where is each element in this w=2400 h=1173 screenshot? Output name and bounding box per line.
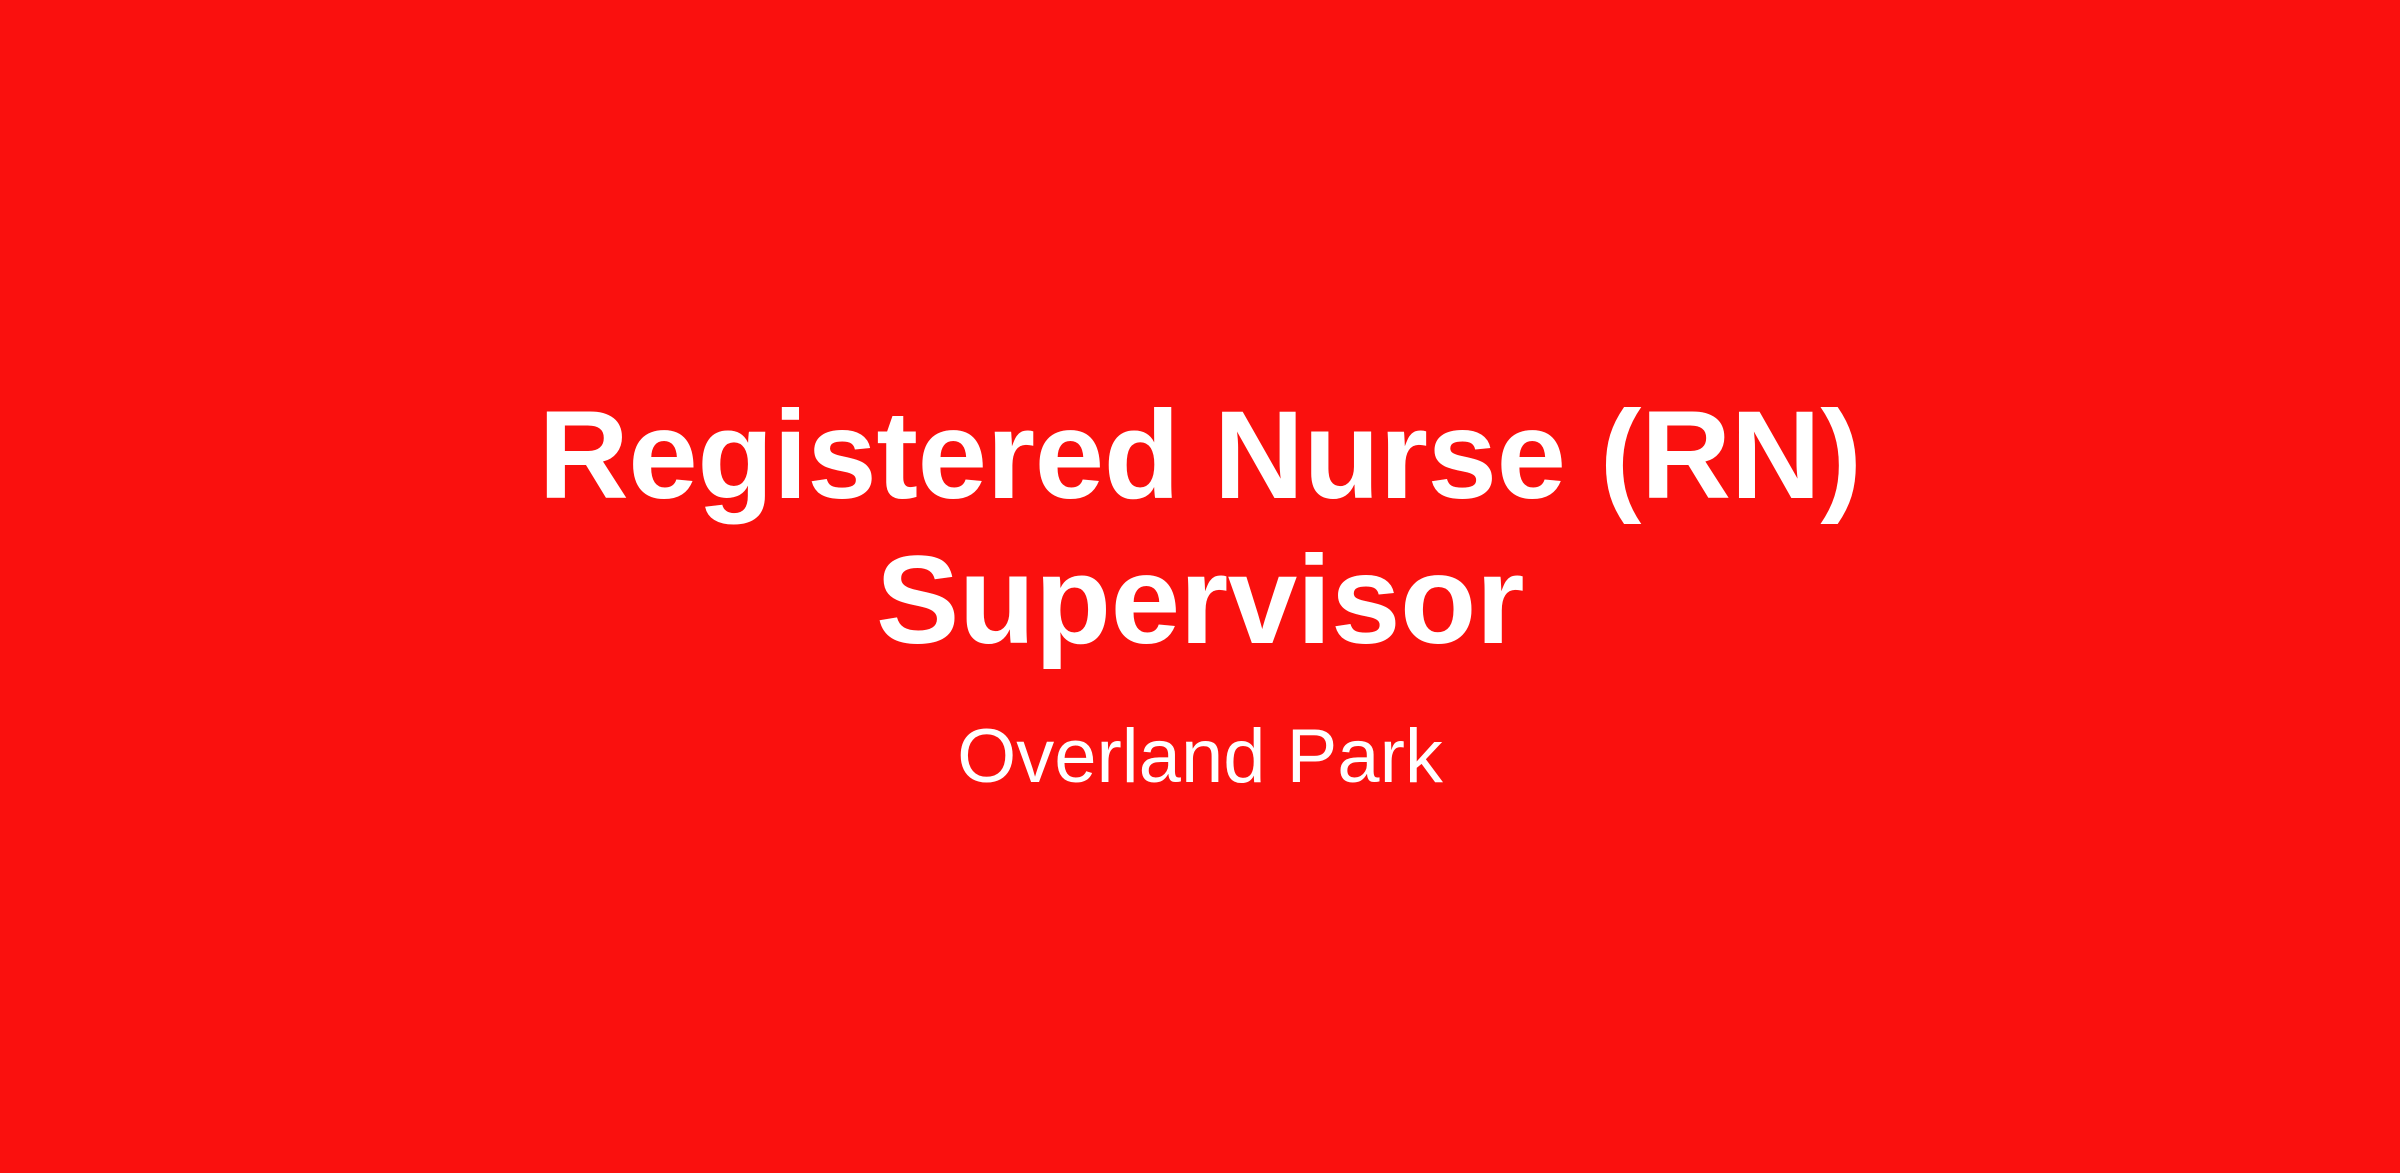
job-posting-card: Registered Nurse (RN) Supervisor Overlan…	[0, 0, 2400, 1173]
job-text-block: Registered Nurse (RN) Supervisor Overlan…	[530, 383, 1870, 802]
job-location: Overland Park	[957, 711, 1443, 802]
job-title: Registered Nurse (RN) Supervisor	[530, 383, 1870, 673]
